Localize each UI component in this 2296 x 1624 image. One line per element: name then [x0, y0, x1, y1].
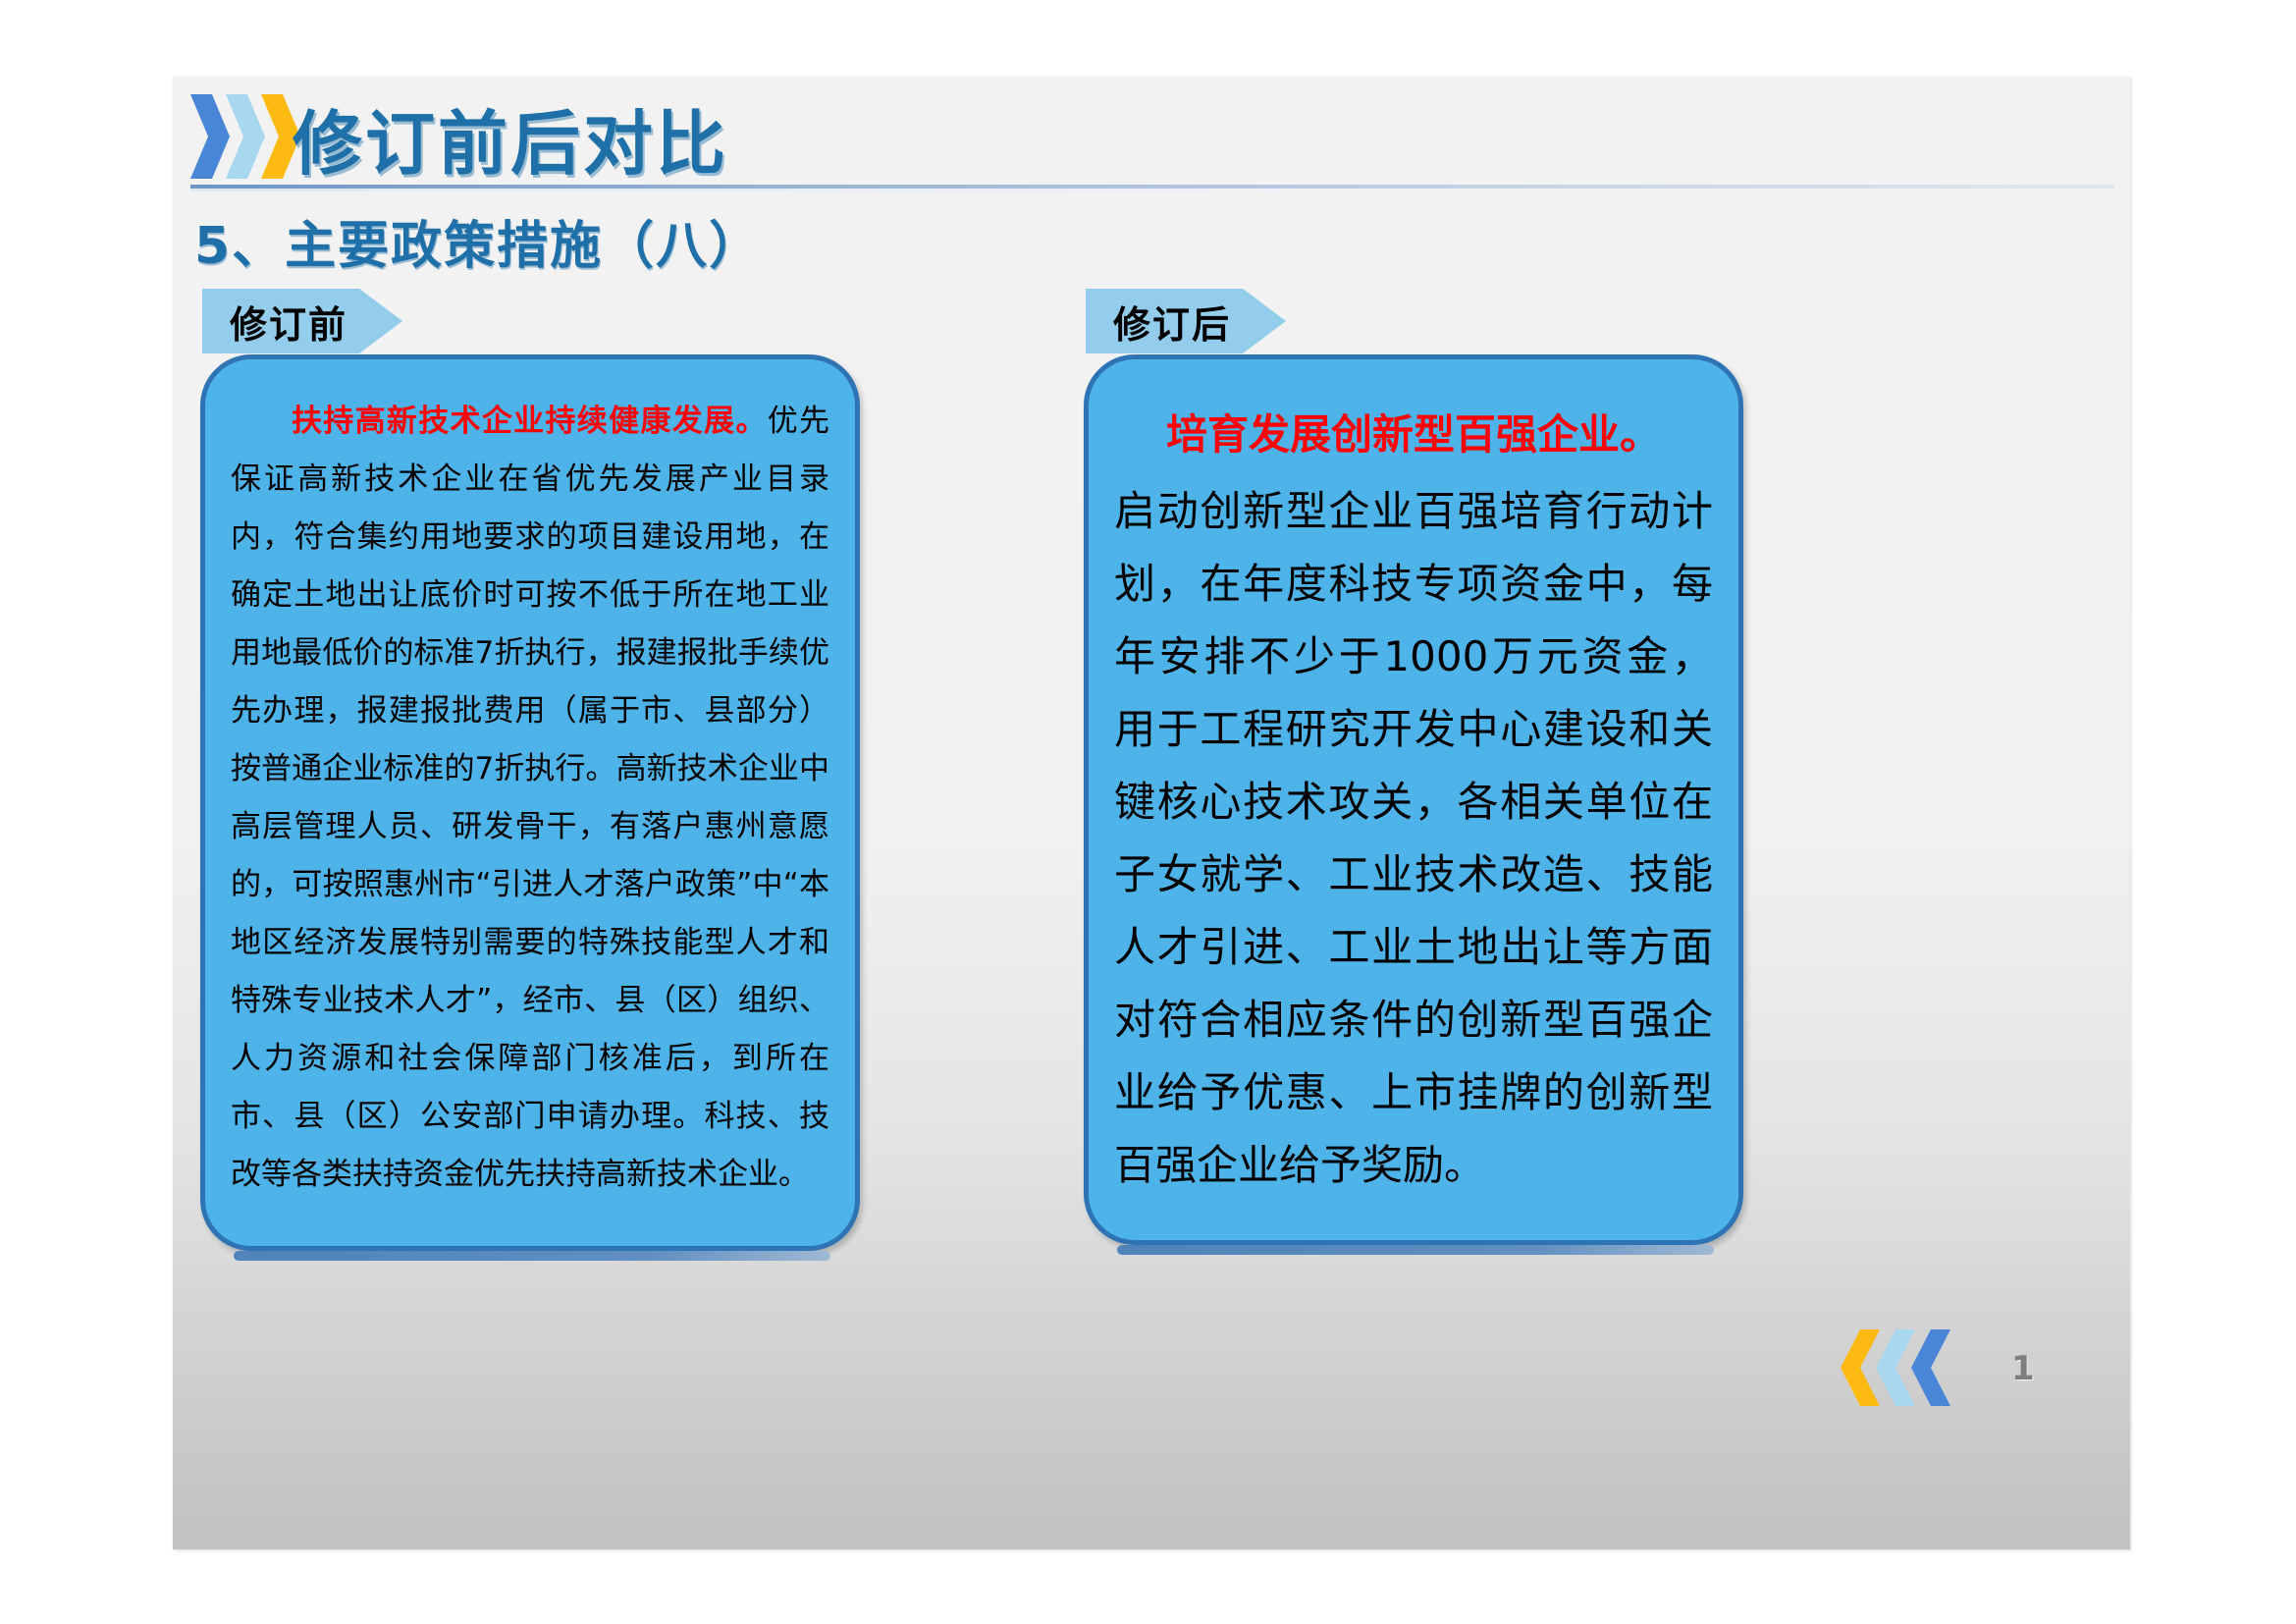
card-after-shadow-bar	[1117, 1245, 1714, 1255]
section-heading: 5、主要政策措施（八）	[194, 204, 762, 278]
page-title: 修订前后对比	[293, 88, 728, 189]
card-before-revision-body: 优先保证高新技术企业在省优先发展产业目录内，符合集约用地要求的项目建设用地，在确…	[231, 404, 829, 1192]
tab-before-revision[interactable]: 修订前	[202, 289, 402, 353]
card-after-revision-body: 启动创新型企业百强培育行动计划，在年度科技专项资金中，每年安排不少于1000万元…	[1114, 487, 1713, 1189]
card-before-revision-text: 扶持高新技术企业持续健康发展。优先保证高新技术企业在省优先发展产业目录内，符合集…	[205, 359, 855, 1223]
slide-header: 修订前后对比	[173, 77, 2130, 204]
header-divider-highlight	[190, 189, 2114, 191]
card-after-revision: 培育发展创新型百强企业。启动创新型企业百强培育行动计划，在年度科技专项资金中，每…	[1084, 354, 1743, 1245]
card-before-revision-lead: 扶持高新技术企业持续健康发展。	[292, 404, 768, 439]
card-after-revision-text: 培育发展创新型百强企业。启动创新型企业百强培育行动计划，在年度科技专项资金中，每…	[1089, 359, 1738, 1221]
card-after-revision-lead: 培育发展创新型百强企业。	[1114, 399, 1713, 471]
slide-canvas: 修订前后对比 5、主要政策措施（八） 修订前 修订后 扶持高新技术企业持续健康发…	[173, 77, 2130, 1549]
page-number: 1	[2011, 1349, 2035, 1388]
tab-after-revision[interactable]: 修订后	[1086, 289, 1286, 353]
card-before-revision: 扶持高新技术企业持续健康发展。优先保证高新技术企业在省优先发展产业目录内，符合集…	[200, 354, 860, 1251]
tab-before-revision-label: 修订前	[202, 295, 347, 349]
tab-after-revision-label: 修订后	[1086, 295, 1231, 349]
card-before-shadow-bar	[234, 1251, 830, 1261]
footer-chevron-group	[1839, 1329, 1972, 1406]
chevron-left-icon-3	[1909, 1329, 1952, 1406]
